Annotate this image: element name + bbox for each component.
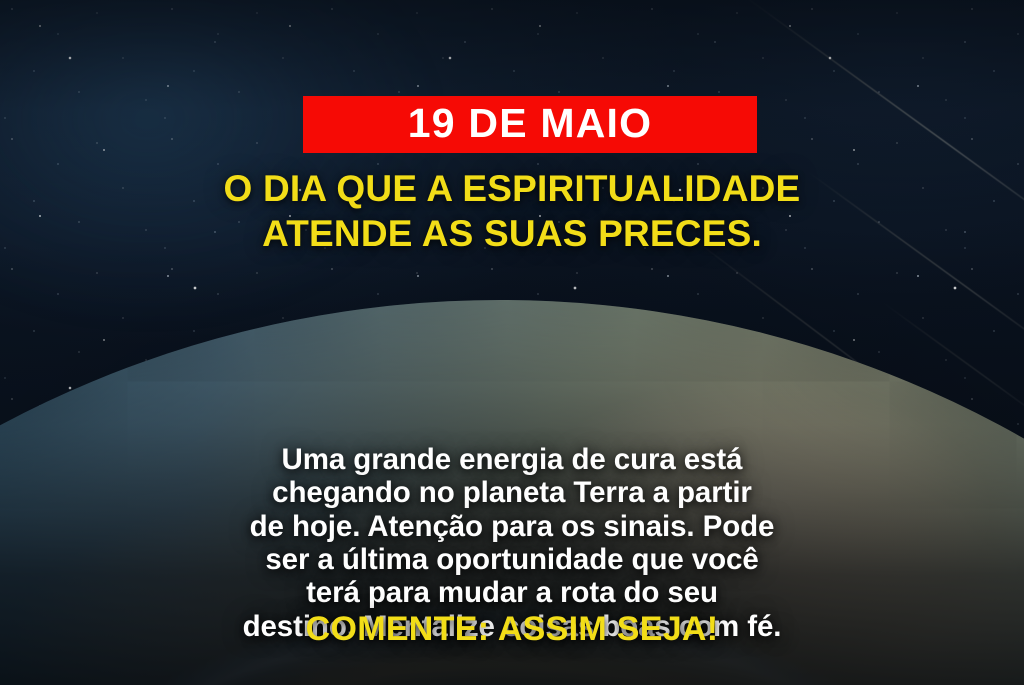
body-line-5: terá para mudar a rota do seu: [0, 576, 1024, 609]
date-badge-text: 19 DE MAIO: [408, 103, 652, 144]
poster-canvas: 19 DE MAIO O DIA QUE A ESPIRITUALIDADE A…: [0, 0, 1024, 685]
headline-line-2: ATENDE AS SUAS PRECES.: [0, 211, 1024, 256]
headline: O DIA QUE A ESPIRITUALIDADE ATENDE AS SU…: [0, 166, 1024, 256]
cta-text: COMENTE: ASSIM SEJA!: [0, 612, 1024, 646]
body-line-1: Uma grande energia de cura está: [0, 443, 1024, 476]
body-line-4: ser a última oportunidade que você: [0, 543, 1024, 576]
date-badge: 19 DE MAIO: [303, 96, 757, 153]
body-line-2: chegando no planeta Terra a partir: [0, 476, 1024, 509]
poster-content: 19 DE MAIO O DIA QUE A ESPIRITUALIDADE A…: [0, 0, 1024, 685]
headline-line-1: O DIA QUE A ESPIRITUALIDADE: [0, 166, 1024, 211]
body-line-3: de hoje. Atenção para os sinais. Pode: [0, 510, 1024, 543]
